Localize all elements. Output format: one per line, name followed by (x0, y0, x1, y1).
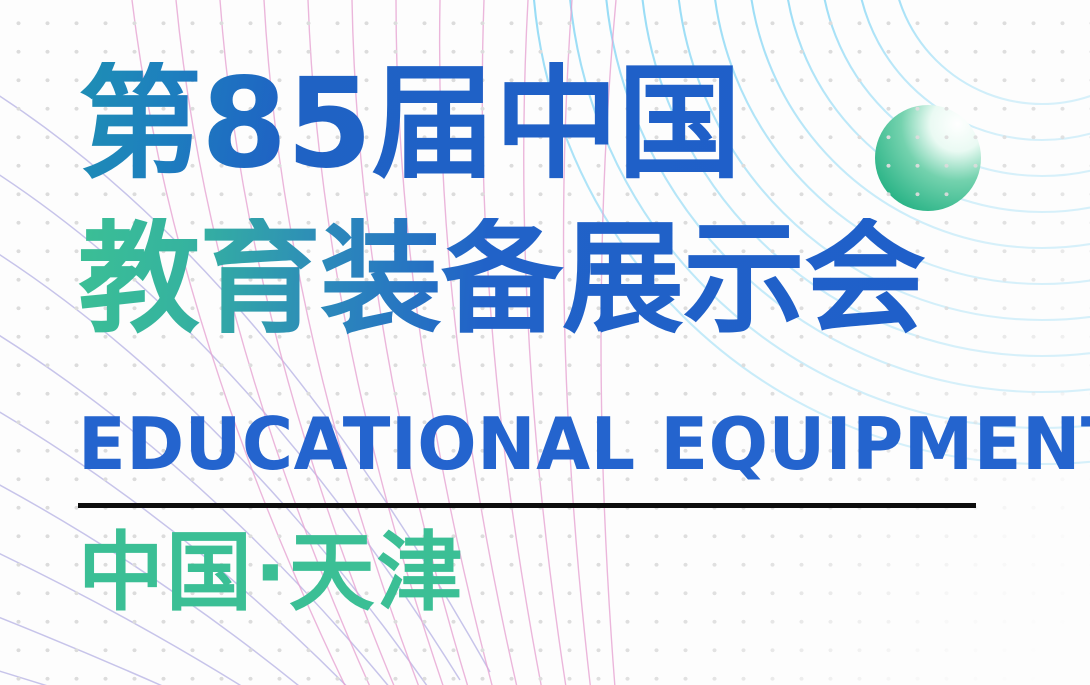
poster-subtitle-english: EDUCATIONAL EQUIPMENT (78, 408, 1090, 480)
poster-content: 第85届中国 教育装备展示会 EDUCATIONAL EQUIPMENT 中国·… (0, 0, 1090, 685)
poster-canvas: 第85届中国 教育装备展示会 EDUCATIONAL EQUIPMENT 中国·… (0, 0, 1090, 685)
poster-title-line-2: 教育装备展示会 (78, 218, 925, 340)
horizontal-divider-rule (78, 503, 976, 508)
poster-title-line-1: 第85届中国 (78, 62, 741, 186)
poster-location-label: 中国·天津 (78, 530, 465, 616)
